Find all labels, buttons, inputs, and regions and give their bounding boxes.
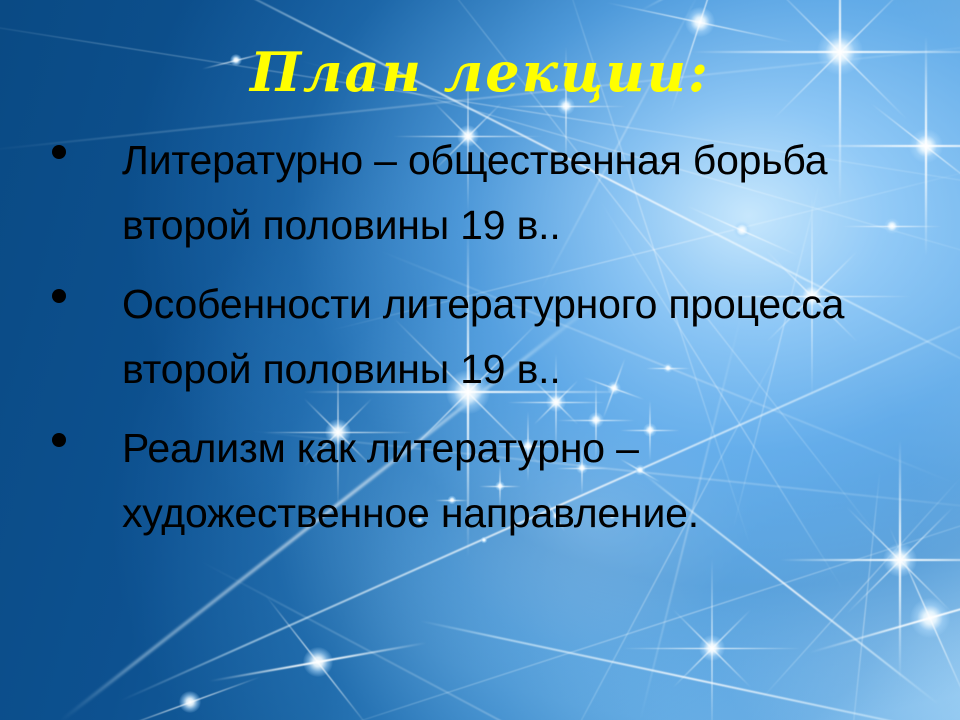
- round-bullet-icon: [52, 145, 66, 159]
- list-item-text: Особенности литературного процесса второ…: [122, 272, 932, 402]
- list-item: Литературно – общественная борьба второй…: [52, 128, 932, 258]
- list-item: Особенности литературного процесса второ…: [52, 272, 932, 402]
- list-item: Реализм как литературно – художественное…: [52, 416, 932, 546]
- slide-title: План лекции:: [0, 44, 960, 101]
- presentation-slide: План лекции: Литературно – общественная …: [0, 0, 960, 720]
- round-bullet-icon: [52, 433, 66, 447]
- round-bullet-icon: [52, 289, 66, 303]
- list-item-text: Реализм как литературно – художественное…: [122, 416, 932, 546]
- bullet-list: Литературно – общественная борьба второй…: [52, 128, 932, 560]
- slide-content: План лекции: Литературно – общественная …: [0, 0, 960, 720]
- list-item-text: Литературно – общественная борьба второй…: [122, 128, 932, 258]
